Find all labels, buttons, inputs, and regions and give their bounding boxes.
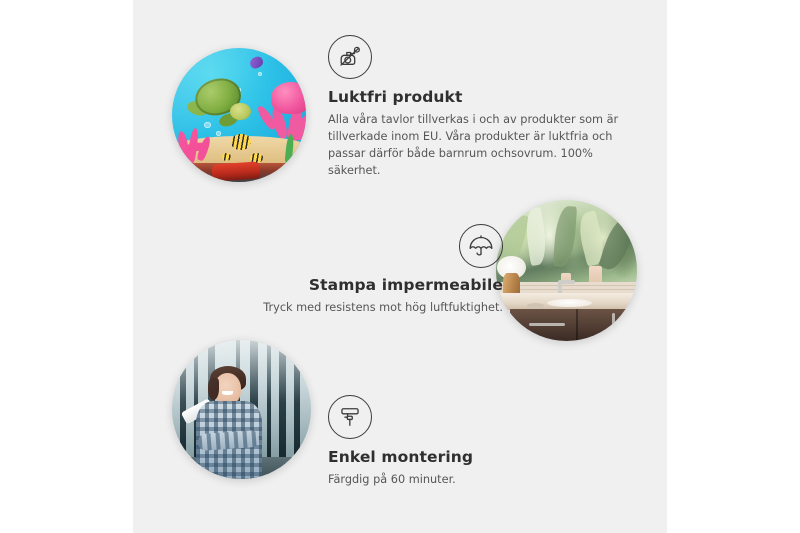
- feature-body: Färgdig på 60 minuter.: [328, 471, 608, 488]
- drawer-handle: [529, 323, 565, 326]
- octopus-head: [271, 82, 306, 114]
- sink-basin: [547, 299, 592, 307]
- bathroom-artwork: [496, 200, 637, 341]
- yellow-fish-icon: [231, 134, 251, 150]
- leaf-shape: [523, 207, 549, 266]
- paint-roller-icon: [328, 395, 372, 439]
- feature-easy-installation: Enkel montering Färgdig på 60 minuter.: [328, 395, 608, 488]
- vanity-cabinet: [510, 309, 637, 341]
- bubble-icon: [216, 131, 221, 136]
- woman-hair-side: [208, 378, 219, 400]
- no-perfume-icon: [328, 35, 372, 79]
- cabinet-seam: [626, 309, 628, 341]
- bathroom-leaf-wallpaper-photo: [496, 200, 637, 341]
- bubble-icon: [258, 72, 262, 76]
- feature-body: Alla våra tavlor tillverkas i och av pro…: [328, 111, 628, 179]
- infographic-stage: Luktfri produkt Alla våra tavlor tillver…: [0, 0, 800, 533]
- kids-underwater-artwork: [172, 48, 306, 182]
- leaf-shape: [553, 205, 577, 267]
- feature-title: Luktfri produkt: [328, 88, 633, 107]
- umbrella-icon: [459, 224, 503, 268]
- feature-waterproof-print: Stampa impermeabile Tryck med resistens …: [213, 224, 503, 316]
- feature-title: Stampa impermeabile: [213, 276, 503, 295]
- kids-underwater-photo: [172, 48, 306, 182]
- cabinet-seam: [576, 309, 578, 341]
- forest-mural-artwork: [172, 340, 311, 479]
- infographic-panel: Luktfri produkt Alla våra tavlor tillver…: [133, 0, 667, 533]
- yellow-fish-icon: [222, 153, 231, 161]
- feature-title: Enkel montering: [328, 448, 608, 467]
- door-handle: [612, 313, 615, 328]
- feature-odour-free: Luktfri produkt Alla våra tavlor tillver…: [328, 35, 633, 179]
- feature-body: Tryck med resistens mot hög luftfuktighe…: [213, 299, 503, 316]
- woman-smile: [222, 391, 233, 394]
- woman-paint-roller-forest-photo: [172, 340, 311, 479]
- leaf-shape: [598, 214, 637, 274]
- bubble-icon: [204, 122, 211, 129]
